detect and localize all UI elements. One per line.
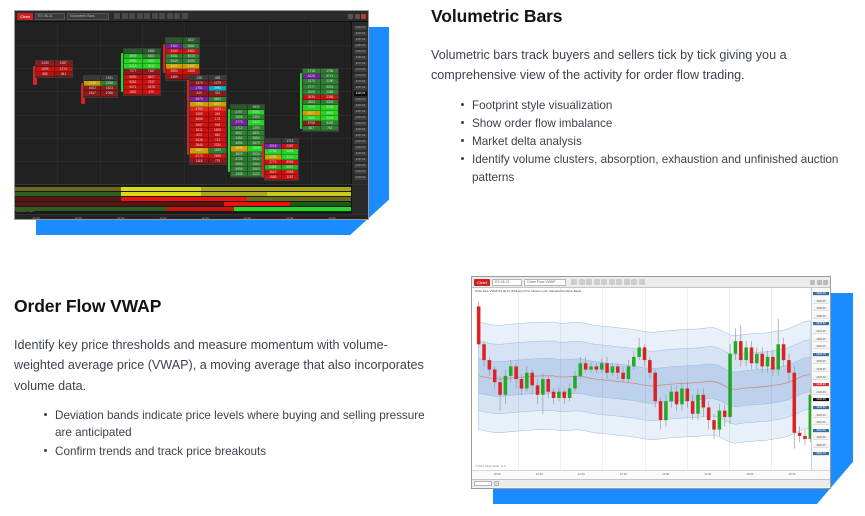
candle-body (776, 344, 780, 369)
price-tick-label: 4145.00 (813, 368, 829, 372)
candle-body (584, 363, 588, 369)
footprint-row: 1118775 (190, 159, 226, 164)
grid-line-horizontal (15, 161, 351, 162)
feature-section-order-flow-vwap: Order Flow VWAP Identify key price thres… (0, 258, 865, 516)
price-tick-label: 4155.00 (354, 116, 367, 120)
price-tick-label: 4147.50 (354, 134, 367, 138)
candle-body (520, 379, 524, 388)
price-tick-label: 4130.00 (813, 391, 829, 395)
bullet-list-volumetric: Footprint style visualizationShow order … (431, 97, 851, 186)
time-tick-label: 12:00 (244, 216, 251, 220)
bullet-item: Show order flow imbalance (461, 115, 851, 132)
candle-body (621, 373, 625, 379)
price-tick-label: 4167.50 (354, 86, 367, 90)
price-tick-label: 4175.00 (354, 68, 367, 72)
candle-body (637, 347, 641, 356)
candle-body (509, 366, 513, 375)
toolbar-icon-group (114, 13, 188, 19)
price-tick-label: 4177.50 (354, 62, 367, 66)
price-marker-label: 4161.75 (813, 353, 829, 357)
time-tick-label: 12:00 (662, 472, 669, 476)
price-axis[interactable]: 4195.004190.004185.004180.004175.004170.… (811, 288, 830, 470)
price-marker-label: 4126.50 (813, 406, 829, 410)
price-tick-label: 4172.50 (354, 74, 367, 78)
app-window-volumetric: Chart ES 06-21 Volumetric Bars (14, 10, 369, 220)
candle-body (803, 436, 807, 439)
footprint-cell-grid: 3830470750602806239337793443171213995567… (230, 104, 265, 179)
price-marker-label: 4130.00 (813, 398, 829, 402)
footprint-ask-cell: 679 (143, 90, 160, 95)
candle-body (536, 385, 540, 394)
feature-section-volumetric-bars: Chart ES 06-21 Volumetric Bars (0, 0, 865, 258)
price-tick-label: 4115.00 (813, 414, 829, 418)
volume-heatmap-band (290, 202, 353, 206)
candle-body (680, 389, 684, 405)
time-tick-label: 09:30 (33, 216, 40, 220)
text-tool-icon[interactable] (152, 13, 158, 19)
candle-body (589, 366, 593, 369)
footprint-bid-cell: 1882 (124, 90, 142, 95)
grid-line-vertical (518, 288, 519, 470)
grid-line-vertical (560, 288, 561, 470)
price-tick-label: 4160.00 (354, 104, 367, 108)
window-controls (348, 14, 366, 19)
footprint-cell-grid: 1440128715951274985481 (35, 60, 73, 78)
footprint-ask-cell: 775 (209, 159, 226, 164)
footprint-cell-grid: 2384391374127927513996619431547386007894… (189, 75, 227, 165)
volume-heatmap-band (247, 197, 353, 201)
bullet-item: Identify volume clusters, absorption, ex… (461, 151, 851, 185)
footprint-cell-grid: 1712251822872788445442583212277380656458… (264, 138, 299, 182)
candle-body (477, 306, 481, 344)
footprint-bar[interactable]: 1682359953013983769752133034717771875890… (123, 48, 161, 97)
vwap-chart-canvas[interactable]: Order Flow VWAP ES 06-21 (5 Minute) Prio… (472, 288, 830, 470)
candle-body (750, 347, 754, 363)
candle-body (482, 344, 486, 360)
candle-body (798, 433, 802, 436)
candle-body (675, 392, 679, 405)
chart-watermark: © 2021 NinjaTrader, LLC (475, 464, 506, 468)
session-time-field[interactable] (474, 481, 492, 486)
chart-subtitle: Order Flow VWAP ES 06-21 (5 Minute) Prio… (475, 289, 582, 293)
footprint-bid-cell: 1118 (190, 159, 208, 164)
price-tick-label: 4145.00 (354, 140, 367, 144)
time-tick-label: 13:30 (788, 472, 795, 476)
footprint-chart-canvas[interactable]: 4192.504190.004187.504185.004182.504180.… (15, 22, 368, 184)
candle-body (498, 382, 502, 395)
footprint-ask-cell: 481 (55, 72, 72, 77)
price-tick-label: 4152.50 (354, 122, 367, 126)
footprint-bar[interactable]: 1718173642263774317031902777320120092389… (302, 68, 340, 132)
ray-tool-icon[interactable] (129, 13, 135, 19)
indicator-selector[interactable]: Volumetric Bars (67, 13, 109, 20)
volume-heatmap-band (121, 187, 201, 191)
price-axis[interactable]: 4192.504190.004187.504185.004182.504180.… (351, 22, 368, 184)
price-tick-label: 4150.00 (354, 128, 367, 132)
candle-body (541, 379, 545, 395)
price-tick-label: 4132.50 (354, 170, 367, 174)
time-tick-label: 13:00 (328, 216, 335, 220)
price-tick-label: 4180.00 (354, 56, 367, 60)
price-tick-label: 4100.00 (813, 436, 829, 440)
volume-profile-pane: Volumetric Bars (15, 184, 368, 214)
screenshot-order-flow-vwap: Chart ES 06-21 Order Flow VWAP (471, 276, 853, 504)
time-tick-label: 10:00 (494, 472, 501, 476)
volume-heatmap-band (201, 187, 353, 191)
price-marker-label: 4093.75 (813, 452, 829, 456)
footprint-bar[interactable]: 3830470750602806239337793443171213995567… (230, 104, 265, 179)
time-tick-label: 10:00 (75, 216, 82, 220)
text-block-order-flow-vwap: Order Flow VWAP Identify key price thres… (14, 296, 434, 461)
time-axis: 09:3010:0010:3011:0011:3012:0012:3013:00 (15, 214, 368, 220)
rectangle-tool-icon[interactable] (144, 13, 150, 19)
rectangle-tool-icon[interactable] (601, 279, 607, 285)
price-tick-label: 4182.50 (354, 50, 367, 54)
footprint-row: 19881157 (265, 175, 298, 180)
footprint-bar[interactable]: 1321213822981602152315471096 (83, 75, 118, 98)
footprint-cell-grid: 1682359953013983769752133034717771875890… (123, 48, 161, 97)
candle-body (664, 401, 668, 420)
maximize-icon[interactable] (817, 280, 822, 285)
volume-heatmap-band (201, 192, 267, 196)
candle-body (739, 341, 743, 360)
candle-body (530, 373, 534, 386)
candle-body (702, 395, 706, 408)
description-volumetric: Volumetric bars track buyers and sellers… (431, 45, 851, 86)
zoom-tool-icon[interactable] (167, 13, 173, 19)
settings-gear-icon[interactable] (639, 279, 645, 285)
candle-body (734, 341, 738, 354)
candle-body (488, 360, 492, 369)
candle-body (782, 344, 786, 360)
lower-pane-axis (351, 185, 368, 214)
candle-body (766, 357, 770, 366)
close-icon[interactable] (361, 14, 366, 19)
grid-line-vertical (142, 22, 143, 184)
footprint-row: 1882679 (124, 90, 160, 95)
grid-line-vertical (771, 288, 772, 470)
volume-heatmap-band (267, 192, 353, 196)
candle-body (669, 392, 673, 401)
bullet-item: Footprint style visualization (461, 97, 851, 114)
price-tick-label: 4185.00 (354, 44, 367, 48)
time-tick-label: 11:00 (159, 216, 166, 220)
time-tick-label: 11:30 (202, 216, 209, 220)
cursor-tool-icon[interactable] (114, 13, 120, 19)
settings-gear-icon[interactable] (182, 13, 188, 19)
cursor-tool-icon[interactable] (571, 279, 577, 285)
volume-heatmap-band (224, 202, 290, 206)
status-bar (472, 479, 830, 487)
measure-tool-icon[interactable] (159, 13, 165, 19)
instrument-selector[interactable]: ES 06-21 (492, 279, 522, 286)
footprint-ask-cell: 1096 (101, 91, 117, 96)
volume-heatmap-band (15, 197, 121, 201)
price-tick-label: 4190.00 (813, 300, 829, 304)
price-tick-label: 4150.00 (813, 360, 829, 364)
candle-body (653, 373, 657, 401)
candle-body (659, 401, 663, 420)
footprint-bid-cell: 1389 (166, 75, 183, 80)
price-tick-label: 4130.00 (354, 176, 367, 180)
time-tick-label: 13:00 (746, 472, 753, 476)
price-tick-label: 4140.00 (813, 376, 829, 380)
price-tick-label: 4140.00 (354, 152, 367, 156)
candle-body (504, 376, 508, 395)
volume-heatmap-band (15, 192, 121, 196)
price-tick-label: 4160.00 (813, 345, 829, 349)
footprint-bid-cell: 507 (303, 126, 321, 131)
candle-body (707, 407, 711, 420)
candle-body (744, 347, 748, 360)
price-tick-label: 4162.50 (354, 98, 367, 102)
ray-tool-icon[interactable] (586, 279, 592, 285)
grid-line-vertical (57, 22, 58, 184)
price-marker-label: 4178.50 (813, 322, 829, 326)
candle-body (718, 411, 722, 430)
footprint-cell-grid: 1321213822981602152315471096 (83, 75, 118, 98)
volume-heatmap-band (15, 187, 121, 191)
footprint-cell-grid: 1718173642263774317031902777320120092389… (302, 68, 340, 132)
time-tick-label: 12:30 (704, 472, 711, 476)
time-axis: 10:0010:3011:0011:3012:0012:3013:0013:30 (472, 470, 830, 479)
price-tick-label: 4170.00 (354, 80, 367, 84)
price-tick-label: 4170.00 (813, 330, 829, 334)
price-tick-label: 4135.00 (354, 164, 367, 168)
candle-body (552, 392, 556, 398)
bullet-item: Deviation bands indicate price levels wh… (44, 407, 434, 441)
price-tick-label: 4180.00 (813, 315, 829, 319)
app-logo-icon: Chart (474, 279, 490, 286)
price-tick-label: 4190.00 (354, 32, 367, 36)
candle-body (605, 363, 609, 372)
candle-body (595, 366, 599, 369)
app-logo-icon: Chart (17, 13, 33, 20)
grid-line-horizontal (15, 138, 351, 139)
crosshair-tool-icon[interactable] (174, 13, 180, 19)
volume-heatmap-band (121, 197, 247, 201)
trendline-tool-icon[interactable] (579, 279, 585, 285)
candle-body (712, 420, 716, 429)
candle-body (696, 395, 700, 414)
grid-line-vertical (602, 288, 603, 470)
footprint-row: 507767 (303, 126, 339, 131)
candle-body (627, 366, 631, 379)
candle-body (573, 376, 577, 389)
text-tool-icon[interactable] (609, 279, 615, 285)
price-marker-label: 4112.00 (813, 429, 829, 433)
fibonacci-tool-icon[interactable] (137, 13, 143, 19)
volume-heatmap-band (234, 207, 353, 211)
time-tick-label: 12:30 (286, 216, 293, 220)
measure-tool-icon[interactable] (616, 279, 622, 285)
toolbar-icon-group (571, 279, 645, 285)
price-tick-label: 4165.00 (813, 338, 829, 342)
price-tick-label: 4095.00 (813, 444, 829, 448)
crosshair-tool-icon[interactable] (631, 279, 637, 285)
fibonacci-tool-icon[interactable] (594, 279, 600, 285)
footprint-bar[interactable]: 1712251822872788445442583212277380656458… (264, 138, 299, 182)
candle-body (611, 366, 615, 372)
instrument-selector[interactable]: ES 06-21 (35, 13, 65, 20)
price-marker-label: 4138.25 (813, 383, 829, 387)
grid-line-vertical (645, 288, 646, 470)
candle-body (568, 389, 572, 398)
candle-body (787, 360, 791, 373)
candle-body (493, 370, 497, 383)
candle-body (723, 411, 727, 417)
close-icon[interactable] (823, 280, 828, 285)
price-tick-label: 4187.50 (354, 38, 367, 42)
candle-body (579, 363, 583, 376)
price-marker-label: 4196.25 (813, 292, 829, 296)
candle-body (755, 354, 759, 363)
volume-heatmap-band (15, 207, 167, 211)
footprint-bid-cell: 985 (36, 72, 54, 77)
candle-body (562, 392, 566, 398)
candle-body (691, 401, 695, 414)
time-tick-label: 11:30 (620, 472, 627, 476)
price-tick-label: 4157.50 (354, 110, 367, 114)
candle-body (546, 379, 550, 392)
candle-body (648, 360, 652, 373)
volume-heatmap-band (121, 192, 201, 196)
price-tick-label: 4185.00 (813, 307, 829, 311)
window-controls (810, 280, 828, 285)
status-chip-icon[interactable] (494, 481, 499, 486)
footprint-bar[interactable]: 1440128715951274985481 (35, 60, 73, 78)
footprint-row: 985481 (36, 72, 72, 77)
page-title-volumetric: Volumetric Bars (431, 6, 851, 27)
grid-line-vertical (100, 22, 101, 184)
bullet-list-vwap: Deviation bands indicate price levels wh… (14, 407, 434, 460)
price-tick-label: 4110.00 (813, 421, 829, 425)
footprint-row: 13451122 (231, 172, 264, 177)
feature-page: Chart ES 06-21 Volumetric Bars (0, 0, 865, 516)
footprint-bid-cell: 1547 (84, 91, 101, 96)
time-tick-label: 11:00 (578, 472, 585, 476)
app-toolbar: Chart ES 06-21 Volumetric Bars (15, 11, 368, 22)
footprint-ask-cell: 1157 (282, 175, 298, 180)
volume-heatmap-band (167, 207, 233, 211)
minimize-icon[interactable] (810, 280, 815, 285)
candle-body (616, 366, 620, 372)
zoom-tool-icon[interactable] (624, 279, 630, 285)
time-tick-label: 10:30 (536, 472, 543, 476)
bullet-item: Market delta analysis (461, 133, 851, 150)
grid-line-vertical (687, 288, 688, 470)
screenshot-volumetric-bars: Chart ES 06-21 Volumetric Bars (14, 10, 390, 235)
price-tick-label: 4142.50 (354, 146, 367, 150)
app-toolbar: Chart ES 06-21 Order Flow VWAP (472, 277, 830, 288)
app-window-vwap: Chart ES 06-21 Order Flow VWAP (471, 276, 831, 489)
indicator-selector[interactable]: Order Flow VWAP (524, 279, 566, 286)
volume-heatmap-band (15, 202, 224, 206)
description-vwap: Identify key price thresholds and measur… (14, 335, 434, 396)
candle-body (632, 357, 636, 366)
footprint-bar[interactable]: 2384391374127927513996619431547386007894… (189, 75, 227, 165)
candle-body (525, 373, 529, 389)
footprint-bid-cell: 1988 (265, 175, 282, 180)
candle-body (793, 373, 797, 433)
footprint-bid-cell: 1345 (231, 172, 248, 177)
trendline-tool-icon[interactable] (122, 13, 128, 19)
footprint-row: 15471096 (84, 91, 117, 96)
time-tick-label: 10:30 (117, 216, 124, 220)
price-tick-label: 4192.50 (354, 26, 367, 30)
candle-body (760, 354, 764, 367)
minimize-icon[interactable] (348, 14, 353, 19)
price-tick-label: 4165.00 (354, 92, 367, 96)
grid-line-vertical (729, 288, 730, 470)
bullet-item: Confirm trends and track price breakouts (44, 443, 434, 460)
price-tick-label: 4137.50 (354, 158, 367, 162)
text-block-volumetric-bars: Volumetric Bars Volumetric bars track bu… (431, 6, 851, 187)
maximize-icon[interactable] (355, 14, 360, 19)
page-title-vwap: Order Flow VWAP (14, 296, 434, 317)
footprint-ask-cell: 767 (321, 126, 338, 131)
